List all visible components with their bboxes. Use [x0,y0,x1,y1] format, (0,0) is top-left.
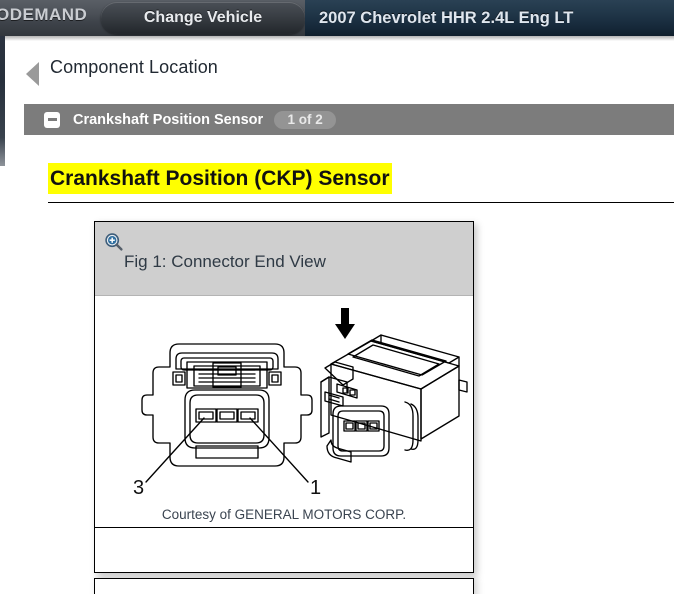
section-header-crankshaft-position-sensor[interactable]: Crankshaft Position Sensor 1 of 2 [24,104,674,135]
change-vehicle-button[interactable]: Change Vehicle [101,2,305,34]
figure-card-next [94,578,474,594]
figure-courtesy: Courtesy of GENERAL MOTORS CORP. [95,507,473,522]
minus-icon[interactable] [44,112,60,128]
figure-header: Fig 1: Connector End View [95,222,473,296]
current-vehicle-tab[interactable]: 2007 Chevrolet HHR 2.4L Eng LT [305,0,674,36]
top-app-bar: ODEMAND Change Vehicle 2007 Chevrolet HH… [0,0,674,36]
page-title: Crankshaft Position (CKP) Sensor [48,163,392,194]
down-arrow-icon [335,308,355,339]
zoom-in-magnifier-icon[interactable] [104,232,124,252]
application-window: ODEMAND Change Vehicle 2007 Chevrolet HH… [0,0,674,594]
breadcrumb-label[interactable]: Component Location [50,57,218,78]
figure-card: Fig 1: Connector End View [94,221,474,573]
product-logo: ODEMAND [0,5,87,25]
product-logo-text: ODEMAND [0,5,87,24]
topbar-shadow [0,36,674,41]
page-title-highlight: Crankshaft Position (CKP) Sensor [48,163,392,194]
figure-body: 3 1 Courtesy of GENERAL MOTORS CORP. [95,296,473,548]
figure-footer-divider [95,527,473,528]
breadcrumb: Component Location [0,52,674,97]
back-triangle-icon[interactable] [26,62,39,86]
section-title: Crankshaft Position Sensor [73,112,263,128]
status-badge: 1 of 2 [274,111,336,129]
title-divider [48,202,674,203]
callout-label-3: 3 [133,477,144,499]
callout-label-1: 1 [310,477,321,499]
figure-caption: Fig 1: Connector End View [124,252,326,272]
